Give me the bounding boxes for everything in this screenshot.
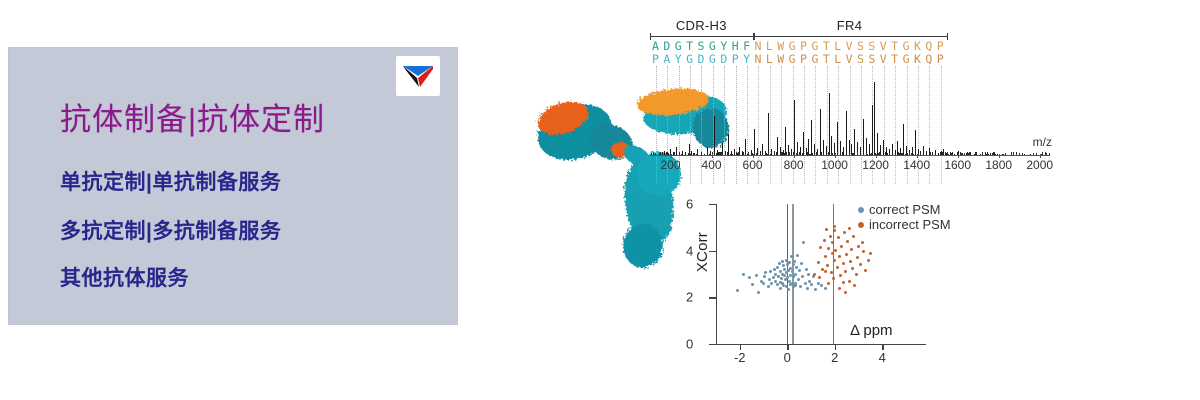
scatter-point (848, 227, 851, 230)
scatter-point (842, 262, 845, 265)
sequence-residue: L (764, 53, 775, 66)
sequence-residue: V (844, 53, 855, 66)
spectrum-tick-label: 800 (784, 158, 804, 172)
scatter-point (767, 285, 770, 288)
scatter-point (781, 260, 784, 263)
legend-item: incorrect PSM (858, 217, 951, 232)
scatter-point (810, 283, 813, 286)
scatter-point (751, 283, 754, 286)
spectrum-tick-label: 2000 (1026, 158, 1053, 172)
sequence-residue: D (696, 53, 707, 66)
mass-spectrum-chart: m/z 200400600800100012001400160018002000 (650, 78, 1050, 173)
promo-panel: 抗体制备|抗体定制 单抗定制|单抗制备服务 多抗定制|多抗制备服务 其他抗体服务 (8, 47, 458, 325)
spectrum-peak (768, 113, 769, 156)
scatter-y-tick (709, 297, 716, 298)
xcorr-scatter-chart: XCorr 0246-2024 Δ ppm correct PSMincorre… (680, 196, 940, 371)
spectrum-peak (915, 130, 916, 157)
scatter-point (861, 241, 864, 244)
scatter-point (806, 287, 809, 290)
sequence-residue: G (901, 53, 912, 66)
page-title: 抗体制备|抗体定制 (60, 94, 325, 139)
sequence-residue: P (935, 53, 946, 66)
scatter-point (859, 263, 862, 266)
spectrum-peak (872, 105, 873, 156)
scatter-point (823, 239, 826, 242)
sequence-residue: V (878, 53, 889, 66)
legend-item: correct PSM (858, 202, 951, 217)
scatter-point (842, 281, 845, 284)
scatter-point (772, 276, 775, 279)
domain-bracket (650, 33, 755, 40)
sequence-residue: N (753, 53, 764, 66)
scatter-point (833, 229, 836, 232)
sequence-residue: S (855, 53, 866, 66)
sequence-residue: Y (741, 53, 752, 66)
legend-dot-icon (858, 207, 864, 213)
scatter-point (742, 273, 745, 276)
sequence-alignment: CDR-H3FR4 ADGTSGYHFNLWGPGTLVSSVTGKQP PAY… (650, 20, 1050, 66)
scatter-point (832, 277, 835, 280)
scatter-point (792, 263, 795, 266)
scatter-y-tick-label: 4 (686, 243, 693, 258)
domain-label: CDR-H3 (676, 18, 727, 33)
scatter-point (844, 270, 847, 273)
scatter-point (801, 275, 804, 278)
scatter-point (793, 260, 796, 263)
sequence-residue: D (718, 53, 729, 66)
scatter-point (788, 261, 791, 264)
spectrum-peak (837, 122, 838, 156)
scatter-point (814, 288, 817, 291)
sequence-residue: K (912, 53, 923, 66)
scatter-point (797, 278, 800, 281)
scatter-point (799, 285, 802, 288)
scatter-point (736, 289, 739, 292)
sequence-residue: Y (673, 53, 684, 66)
promo-link-mab[interactable]: 单抗定制|单抗制备服务 (60, 166, 281, 196)
scatter-point (769, 270, 772, 273)
scatter-point (805, 268, 808, 271)
scatter-point (762, 282, 765, 285)
scatter-point (864, 269, 867, 272)
spectrum-peak (811, 120, 812, 156)
scatter-point (763, 275, 766, 278)
scatter-y-tick (709, 251, 716, 252)
sequence-residue: A (661, 53, 672, 66)
scatter-point (845, 253, 848, 256)
spectrum-peak (820, 109, 821, 156)
scatter-point (840, 245, 843, 248)
sequence-residue: G (809, 53, 820, 66)
scatter-point (837, 236, 840, 239)
spectrum-peak (863, 119, 864, 156)
scatter-point (850, 248, 853, 251)
scatter-y-tick-label: 2 (686, 290, 693, 305)
scatter-point (846, 240, 849, 243)
spectrum-peak (794, 100, 795, 156)
sequence-residue: P (650, 53, 661, 66)
scatter-point (827, 247, 830, 250)
scatter-point (807, 273, 810, 276)
scatter-ylabel: XCorr (694, 232, 711, 272)
scatter-x-tick-label: 4 (879, 350, 886, 365)
scatter-point (826, 264, 829, 267)
sequence-row-bottom: PAYGDGDPYNLWGPGTLVSSVTGKQP (650, 53, 1050, 66)
scatter-point (819, 246, 822, 249)
scatter-point (802, 241, 805, 244)
domain-bracket (753, 33, 949, 40)
spectrum-plot-area (650, 78, 1050, 156)
scatter-point (831, 252, 834, 255)
scatter-point (820, 284, 823, 287)
legend-label: incorrect PSM (869, 217, 951, 232)
scatter-point (827, 282, 830, 285)
scatter-point (817, 282, 820, 285)
scatter-point (773, 268, 776, 271)
spectrum-x-axis: 200400600800100012001400160018002000 (650, 154, 1050, 174)
scatter-point (794, 282, 797, 285)
scatter-point (757, 291, 760, 294)
sequence-residue: G (684, 53, 695, 66)
scatter-point (755, 274, 758, 277)
spectrum-peak (903, 124, 904, 156)
scatter-point (764, 271, 767, 274)
scatter-y-tick-label: 0 (686, 337, 693, 352)
scatter-point (862, 250, 865, 253)
scatter-point (843, 231, 846, 234)
domain-label: FR4 (837, 18, 862, 33)
scatter-point (869, 252, 872, 255)
sequence-residue: P (798, 53, 809, 66)
promo-link-other[interactable]: 其他抗体服务 (60, 262, 189, 292)
scatter-point (867, 259, 870, 262)
scatter-legend: correct PSMincorrect PSM (858, 202, 951, 232)
scatter-y-tick (709, 344, 716, 345)
chevron-logo-icon (396, 56, 440, 96)
spectrum-tick-label: 200 (660, 158, 680, 172)
scatter-point (768, 278, 771, 281)
spectrum-tick-label: 400 (702, 158, 722, 172)
promo-link-pab[interactable]: 多抗定制|多抗制备服务 (60, 215, 281, 245)
scatter-point (855, 273, 858, 276)
scatter-y-tick (709, 204, 716, 205)
scatter-point (838, 287, 841, 290)
scatter-point (780, 277, 783, 280)
spectrum-peak (829, 93, 830, 156)
scatter-point (813, 273, 816, 276)
scatter-x-tick-label: -2 (734, 350, 746, 365)
scatter-point (748, 276, 751, 279)
scatter-point (836, 266, 839, 269)
scatter-point (824, 270, 827, 273)
spectrum-tick-label: 1600 (944, 158, 971, 172)
scatter-point (857, 245, 860, 248)
scatter-y-tick-label: 6 (686, 197, 693, 212)
scatter-point (824, 287, 827, 290)
scatter-x-axis (716, 344, 926, 345)
sequence-residue: P (730, 53, 741, 66)
scatter-point (829, 235, 832, 238)
spectrum-tick-label: 600 (743, 158, 763, 172)
scatter-point (825, 228, 828, 231)
scatter-point (776, 283, 779, 286)
scatter-point (795, 266, 798, 269)
scatter-point (770, 282, 773, 285)
scatter-point (849, 260, 852, 263)
scatter-x-tick-label: 0 (784, 350, 791, 365)
legend-label: correct PSM (869, 202, 941, 217)
spectrum-xlabel: m/z (1033, 135, 1052, 149)
scatter-point (848, 280, 851, 283)
scatter-x-tick-label: 2 (831, 350, 838, 365)
sequence-residue: T (889, 53, 900, 66)
scatter-point (785, 259, 788, 262)
scatter-point (852, 235, 855, 238)
spectrum-tick-label: 1800 (985, 158, 1012, 172)
scatter-point (856, 256, 859, 259)
scatter-point (833, 225, 836, 228)
spectrum-peak (714, 116, 715, 157)
sequence-residue: G (707, 53, 718, 66)
scatter-point (818, 276, 821, 279)
scatter-point (792, 285, 795, 288)
scatter-point (851, 267, 854, 270)
scatter-point (844, 291, 847, 294)
spectrum-peak (874, 82, 875, 156)
scatter-point (787, 288, 790, 291)
scatter-point (779, 287, 782, 290)
scatter-point (804, 282, 807, 285)
scatter-point (853, 284, 856, 287)
scatter-point (800, 262, 803, 265)
scatter-point (782, 264, 785, 267)
sequence-residue: Q (923, 53, 934, 66)
sequence-residue: T (821, 53, 832, 66)
scatter-point (833, 259, 836, 262)
scatter-point (834, 249, 837, 252)
scatter-point (786, 276, 789, 279)
spectrum-peak (728, 134, 729, 156)
spectrum-tick-label: 1000 (821, 158, 848, 172)
spectrum-tick-label: 1200 (862, 158, 889, 172)
spectrum-tick-label: 1400 (903, 158, 930, 172)
sequence-residue: S (866, 53, 877, 66)
sequence-residue: G (787, 53, 798, 66)
scatter-point (798, 269, 801, 272)
scatter-xlabel: Δ ppm (850, 322, 893, 339)
science-figure: CDR-H3FR4 ADGTSGYHFNLWGPGTLVSSVTGKQP PAY… (500, 0, 1100, 400)
sequence-residue: W (775, 53, 786, 66)
scatter-point (838, 255, 841, 258)
scatter-point (794, 273, 797, 276)
scatter-point (839, 274, 842, 277)
sequence-residue: L (832, 53, 843, 66)
scatter-point (790, 255, 793, 258)
scatter-point (824, 255, 827, 258)
domain-bar: CDR-H3FR4 (650, 20, 1050, 40)
screenshot-root: 抗体制备|抗体定制 单抗定制|单抗制备服务 多抗定制|多抗制备服务 其他抗体服务 (0, 0, 1200, 400)
scatter-point (817, 261, 820, 264)
scatter-point (796, 254, 799, 257)
legend-dot-icon (858, 222, 864, 228)
spectrum-peak (846, 111, 847, 156)
scatter-point (776, 266, 779, 269)
scatter-point (789, 274, 792, 277)
